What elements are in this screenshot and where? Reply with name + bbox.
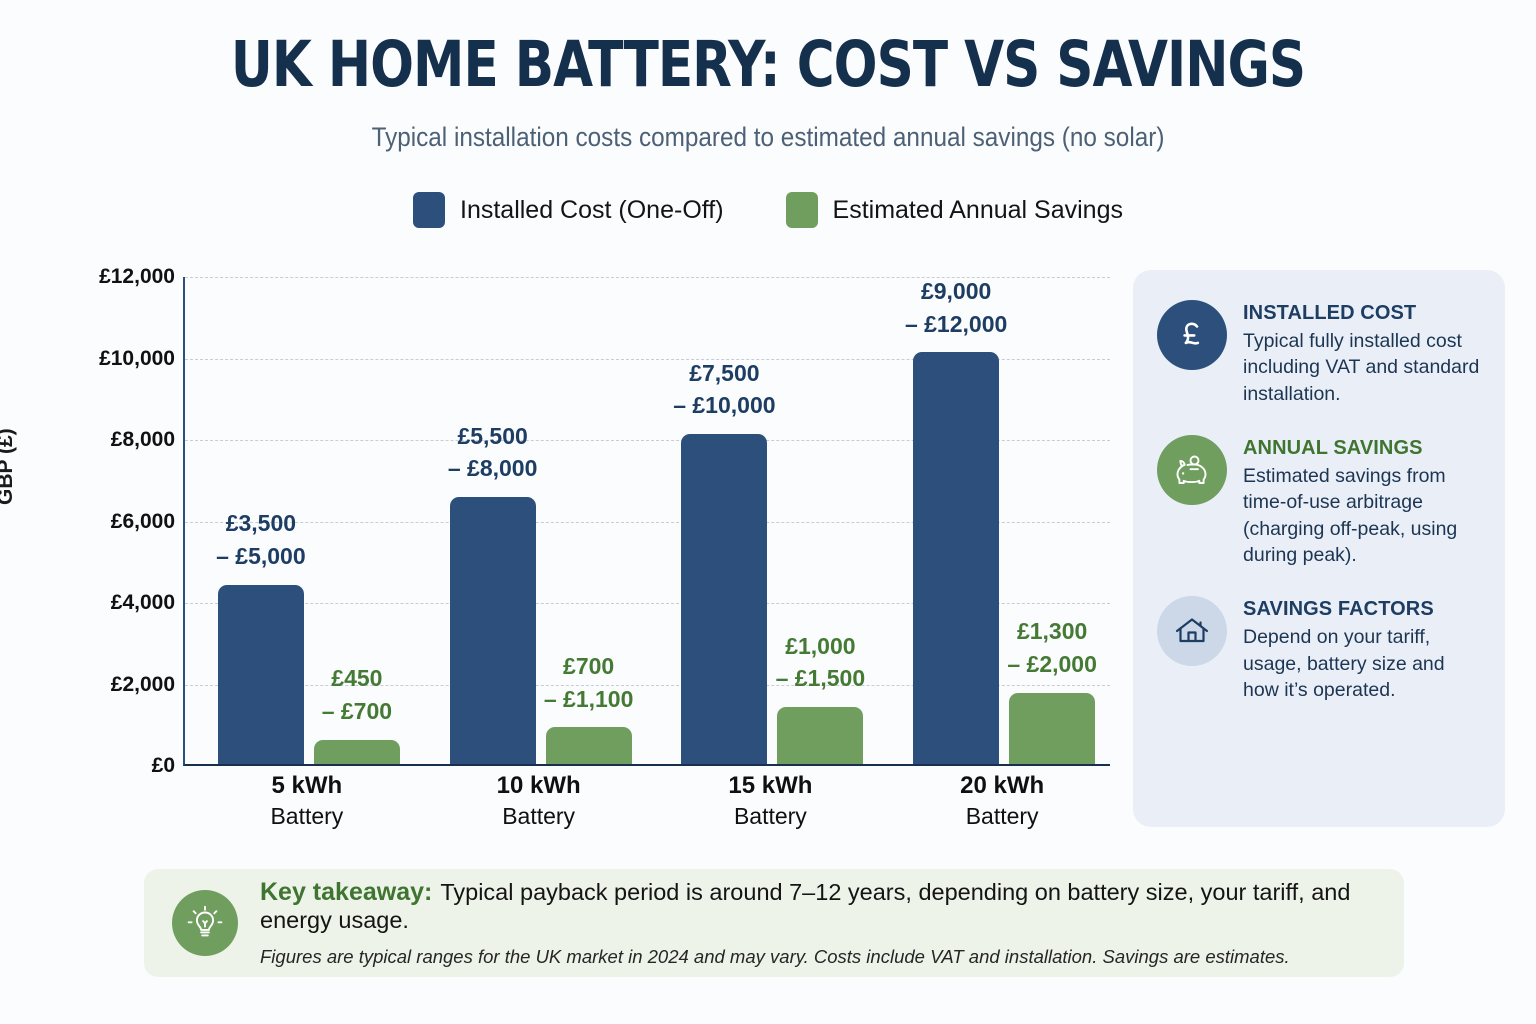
sidebar-card-body: Typical fully installed cost including V… — [1243, 328, 1483, 407]
x-axis-category-label: 20 kWhBattery — [881, 772, 1123, 830]
y-axis-tick-label: £4,000 — [0, 591, 175, 615]
page-subtitle: Typical installation costs compared to e… — [77, 122, 1459, 153]
bar-installed-cost[interactable] — [450, 497, 536, 764]
page-title: UK HOME BATTERY: COST VS SAVINGS — [138, 28, 1398, 101]
bar-value-label-cost: £9,000– £12,000 — [875, 275, 1037, 340]
sidebar-card-installed-cost: INSTALLED COST Typical fully installed c… — [1157, 300, 1483, 407]
sidebar-card-annual-savings: ANNUAL SAVINGS Estimated savings from ti… — [1157, 435, 1483, 568]
banner-footnote: Figures are typical ranges for the UK ma… — [260, 946, 1376, 968]
legend-swatch-installed-cost — [413, 192, 445, 228]
bar-annual-savings[interactable] — [777, 707, 863, 764]
sidebar-card-heading: ANNUAL SAVINGS — [1243, 437, 1483, 460]
info-sidebar: INSTALLED COST Typical fully installed c… — [1133, 270, 1505, 827]
bar-value-label-savings: £1,300– £2,000 — [971, 615, 1133, 680]
bar-value-label-cost: £3,500– £5,000 — [180, 507, 342, 572]
chart-legend: Installed Cost (One-Off) Estimated Annua… — [0, 192, 1536, 228]
lightbulb-icon — [172, 890, 238, 956]
plot-area: £3,500– £5,000£450– £700£5,500– £8,000£7… — [183, 277, 1110, 766]
bar-annual-savings[interactable] — [546, 727, 632, 764]
bar-value-label-savings: £450– £700 — [276, 662, 438, 727]
house-icon — [1157, 596, 1227, 666]
bar-annual-savings[interactable] — [1009, 693, 1095, 764]
legend-label-annual-savings: Estimated Annual Savings — [833, 196, 1123, 225]
bar-value-label-savings: £700– £1,100 — [508, 650, 670, 715]
pound-sign-icon — [1157, 300, 1227, 370]
bar-installed-cost[interactable] — [913, 352, 999, 764]
y-axis-tick-label: £8,000 — [0, 428, 175, 452]
bar-annual-savings[interactable] — [314, 740, 400, 764]
sidebar-card-savings-factors: SAVINGS FACTORS Depend on your tariff, u… — [1157, 596, 1483, 703]
sidebar-card-body: Depend on your tariff, usage, battery si… — [1243, 624, 1483, 703]
key-takeaway-banner: Key takeaway:Typical payback period is a… — [144, 869, 1404, 977]
legend-swatch-annual-savings — [786, 192, 818, 228]
legend-item-installed-cost: Installed Cost (One-Off) — [413, 192, 724, 228]
piggy-bank-icon — [1157, 435, 1227, 505]
banner-key-label: Key takeaway: — [260, 878, 432, 906]
bar-value-label-savings: £1,000– £1,500 — [739, 630, 901, 695]
x-axis-category-label: 5 kWhBattery — [186, 772, 428, 830]
x-axis-category-label: 15 kWhBattery — [649, 772, 891, 830]
bar-value-label-cost: £7,500– £10,000 — [643, 357, 805, 422]
bar-installed-cost[interactable] — [681, 434, 767, 764]
y-axis-tick-label: £12,000 — [0, 265, 175, 289]
x-axis-category-label: 10 kWhBattery — [418, 772, 660, 830]
legend-item-annual-savings: Estimated Annual Savings — [786, 192, 1123, 228]
sidebar-card-heading: SAVINGS FACTORS — [1243, 598, 1483, 621]
y-axis-tick-label: £2,000 — [0, 673, 175, 697]
legend-label-installed-cost: Installed Cost (One-Off) — [460, 196, 724, 225]
sidebar-card-body: Estimated savings from time-of-use arbit… — [1243, 463, 1483, 568]
bar-chart: GBP (£) £0£2,000£4,000£6,000£8,000£10,00… — [0, 255, 1120, 845]
bar-value-label-cost: £5,500– £8,000 — [412, 420, 574, 485]
sidebar-card-heading: INSTALLED COST — [1243, 302, 1483, 325]
y-axis-tick-label: £6,000 — [0, 510, 175, 534]
y-axis-tick-label: £0 — [0, 754, 175, 778]
banner-main-text: Key takeaway:Typical payback period is a… — [260, 878, 1376, 934]
y-axis-tick-label: £10,000 — [0, 347, 175, 371]
